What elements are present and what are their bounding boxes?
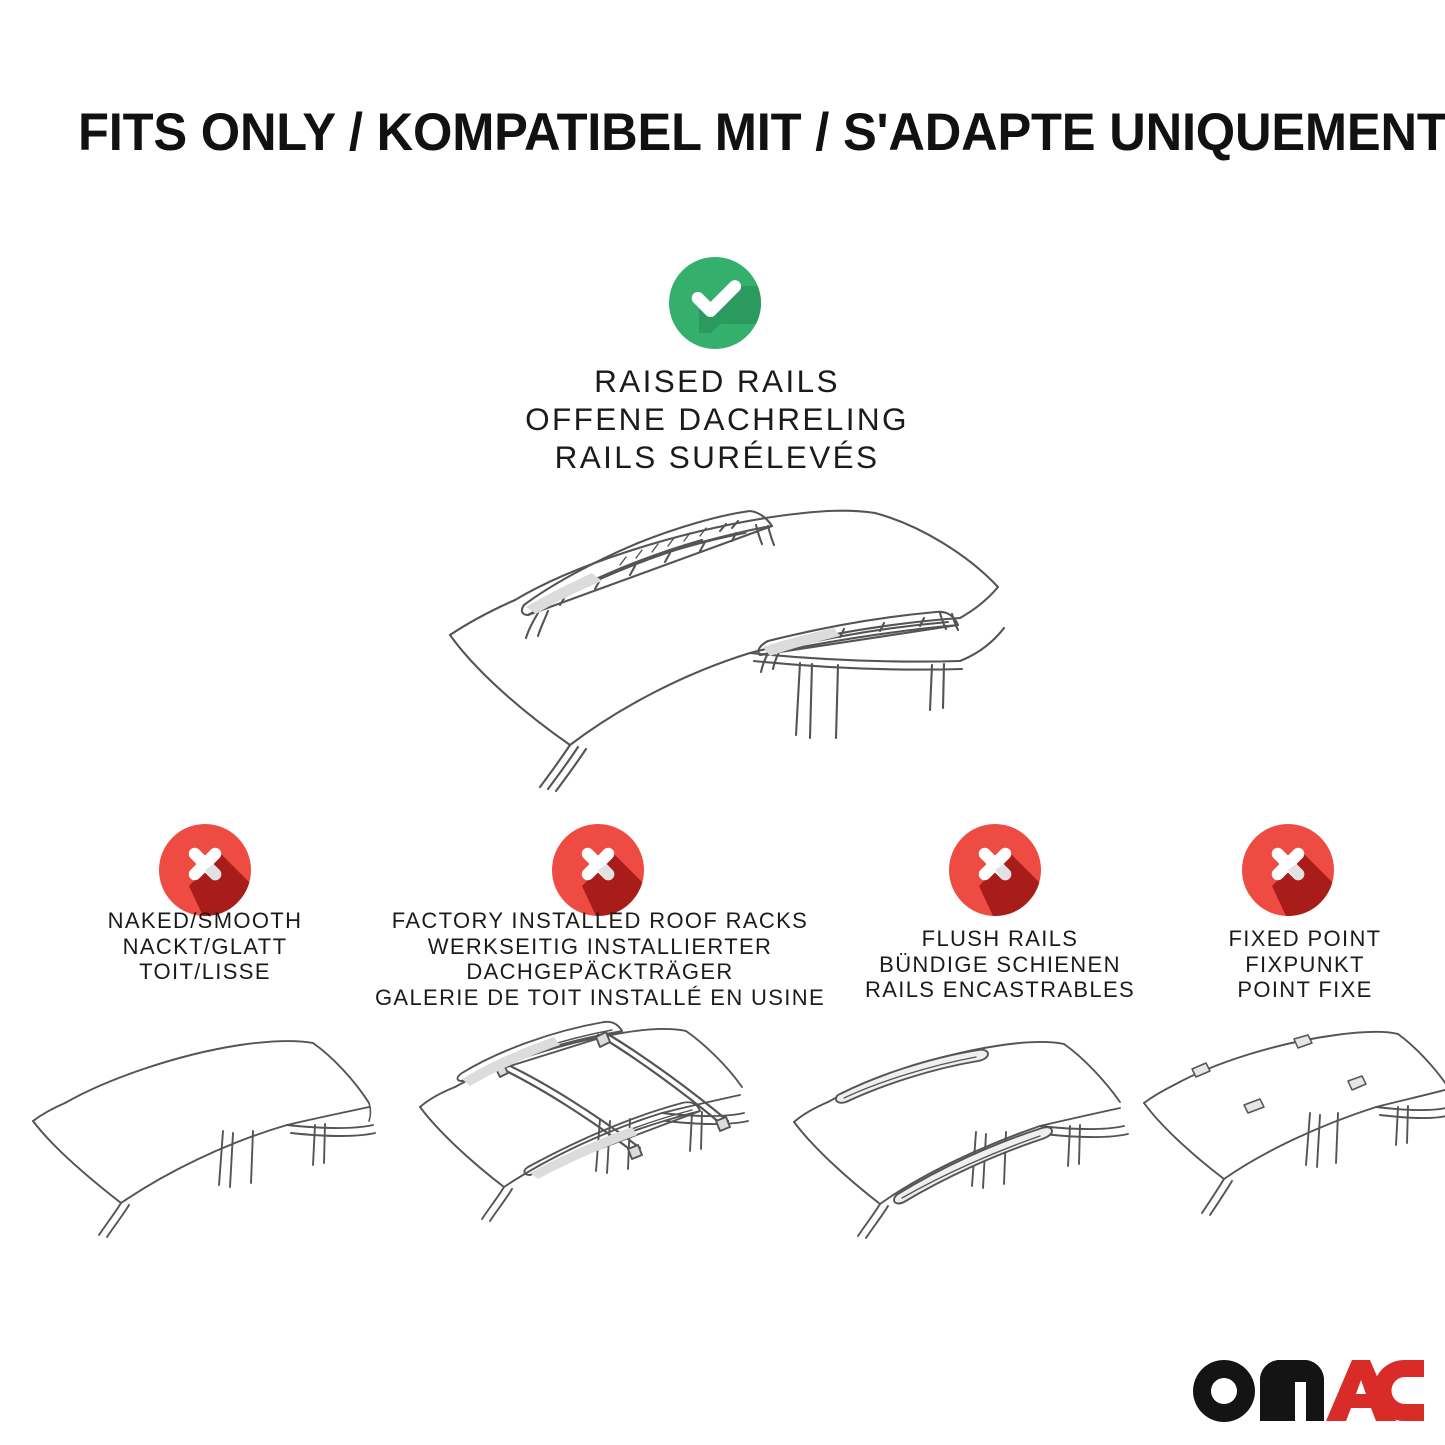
infographic-page: FITS ONLY / KOMPATIBEL MIT / S'ADAPTE UN…	[0, 0, 1445, 1445]
caption-factory-racks: FACTORY INSTALLED ROOF RACKS WERKSEITIG …	[370, 908, 830, 1010]
x-circle-glyph	[949, 824, 1041, 916]
flush-rails-line-2: BÜNDIGE SCHIENEN	[830, 952, 1170, 978]
compatible-caption: RAISED RAILS OFFENE DACHRELING RAILS SUR…	[322, 362, 1112, 476]
x-circle-icon-flush-rails	[949, 824, 1041, 916]
flush-rails-line-3: RAILS ENCASTRABLES	[830, 977, 1170, 1003]
raised-rails-roof-illustration	[420, 495, 1010, 795]
fixed-point-line-1: FIXED POINT	[1160, 926, 1445, 952]
naked-smooth-roof-illustration	[25, 1025, 375, 1240]
x-circle-icon-fixed-point	[1242, 824, 1334, 916]
naked-smooth-line-3: TOIT/LISSE	[40, 959, 370, 985]
compatible-line-1: RAISED RAILS	[322, 362, 1112, 400]
check-circle-glyph	[669, 257, 761, 349]
flush-rails-roof-illustration	[780, 1028, 1140, 1243]
caption-naked-smooth: NAKED/SMOOTH NACKT/GLATT TOIT/LISSE	[40, 908, 370, 985]
factory-roof-racks-illustration	[400, 1015, 760, 1240]
fixed-point-roof-illustration	[1140, 1025, 1445, 1240]
omac-logo-glyph	[1192, 1358, 1424, 1426]
naked-smooth-line-1: NAKED/SMOOTH	[40, 908, 370, 934]
compatible-line-2: OFFENE DACHRELING	[322, 400, 1112, 438]
factory-racks-line-4: GALERIE DE TOIT INSTALLÉ EN USINE	[370, 985, 830, 1011]
caption-flush-rails: FLUSH RAILS BÜNDIGE SCHIENEN RAILS ENCAS…	[830, 926, 1170, 1003]
x-circle-icon-factory-racks	[552, 824, 644, 916]
check-circle-icon	[669, 257, 761, 349]
caption-fixed-point: FIXED POINT FIXPUNKT POINT FIXE	[1160, 926, 1445, 1003]
fixed-point-line-2: FIXPUNKT	[1160, 952, 1445, 978]
factory-racks-line-3: DACHGEPÄCKTRÄGER	[370, 959, 830, 985]
factory-racks-line-2: WERKSEITIG INSTALLIERTER	[370, 934, 830, 960]
fixed-point-line-3: POINT FIXE	[1160, 977, 1445, 1003]
x-circle-icon-naked-smooth	[159, 824, 251, 916]
factory-racks-line-1: FACTORY INSTALLED ROOF RACKS	[370, 908, 830, 934]
omac-logo: OMAC	[1192, 1358, 1424, 1426]
naked-smooth-line-2: NACKT/GLATT	[40, 934, 370, 960]
x-circle-glyph	[159, 824, 251, 916]
compatible-line-3: RAILS SURÉLEVÉS	[322, 438, 1112, 476]
x-circle-glyph	[1242, 824, 1334, 916]
flush-rails-line-1: FLUSH RAILS	[830, 926, 1170, 952]
x-circle-glyph	[552, 824, 644, 916]
page-title: FITS ONLY / KOMPATIBEL MIT / S'ADAPTE UN…	[78, 104, 1320, 162]
